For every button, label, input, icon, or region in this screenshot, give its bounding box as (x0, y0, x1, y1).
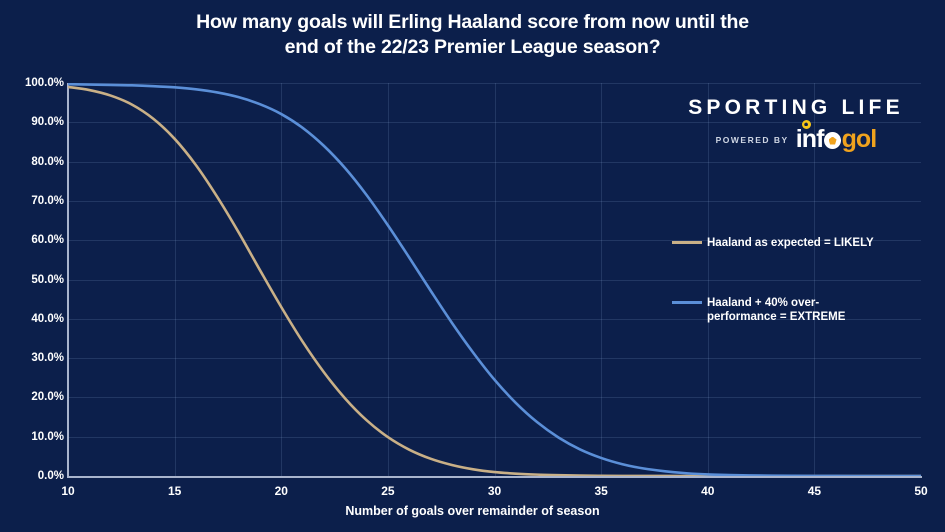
x-axis-line (67, 476, 922, 478)
brand-sporting-life-text: SPORTING LIFE (672, 96, 920, 120)
y-axis-tick-label: 100.0% (2, 77, 64, 89)
y-axis-tick-label: 80.0% (2, 156, 64, 168)
football-icon (824, 132, 841, 149)
y-axis-tick-label: 30.0% (2, 352, 64, 364)
chart-page: How many goals will Erling Haaland score… (0, 0, 945, 532)
x-axis-tick-label: 25 (381, 484, 394, 498)
y-axis-tick-label: 60.0% (2, 234, 64, 246)
y-axis-tick-label: 20.0% (2, 391, 64, 403)
legend-color-swatch (672, 301, 702, 304)
y-axis-tick-label: 50.0% (2, 274, 64, 286)
powered-by-row: POWERED BY infgol (672, 127, 920, 152)
powered-by-label: POWERED BY (716, 135, 789, 145)
x-axis-tick-label: 40 (701, 484, 714, 498)
y-axis-tick-labels: 0.0%10.0%20.0%30.0%40.0%50.0%60.0%70.0%8… (0, 0, 64, 532)
legend-label: Haaland + 40% over- performance = EXTREM… (707, 296, 845, 324)
x-axis-tick-label: 50 (914, 484, 927, 498)
infogol-logo: infgol (796, 127, 877, 152)
infogol-logo-part1: inf (796, 125, 824, 153)
page-title: How many goals will Erling Haaland score… (0, 10, 945, 60)
branding: SPORTING LIFE POWERED BY infgol (672, 96, 920, 152)
y-axis-tick-label: 70.0% (2, 195, 64, 207)
y-axis-tick-label: 10.0% (2, 431, 64, 443)
legend-item[interactable]: Haaland + 40% over- performance = EXTREM… (672, 296, 934, 324)
x-axis-tick-label: 45 (808, 484, 821, 498)
legend-label: Haaland as expected = LIKELY (707, 236, 874, 250)
x-axis-tick-label: 30 (488, 484, 501, 498)
y-axis-tick-label: 40.0% (2, 313, 64, 325)
x-axis-label: Number of goals over remainder of season (0, 504, 945, 518)
legend-item[interactable]: Haaland as expected = LIKELY (672, 236, 934, 250)
y-axis-tick-label: 0.0% (2, 470, 64, 482)
x-axis-tick-label: 35 (594, 484, 607, 498)
chart-legend: Haaland as expected = LIKELYHaaland + 40… (672, 236, 934, 370)
y-axis-tick-label: 90.0% (2, 116, 64, 128)
x-axis-tick-label: 10 (61, 484, 74, 498)
football-dot-icon (802, 120, 811, 129)
x-axis-tick-label: 15 (168, 484, 181, 498)
x-axis-tick-label: 20 (275, 484, 288, 498)
infogol-logo-part2: gol (842, 125, 877, 153)
legend-color-swatch (672, 241, 702, 244)
